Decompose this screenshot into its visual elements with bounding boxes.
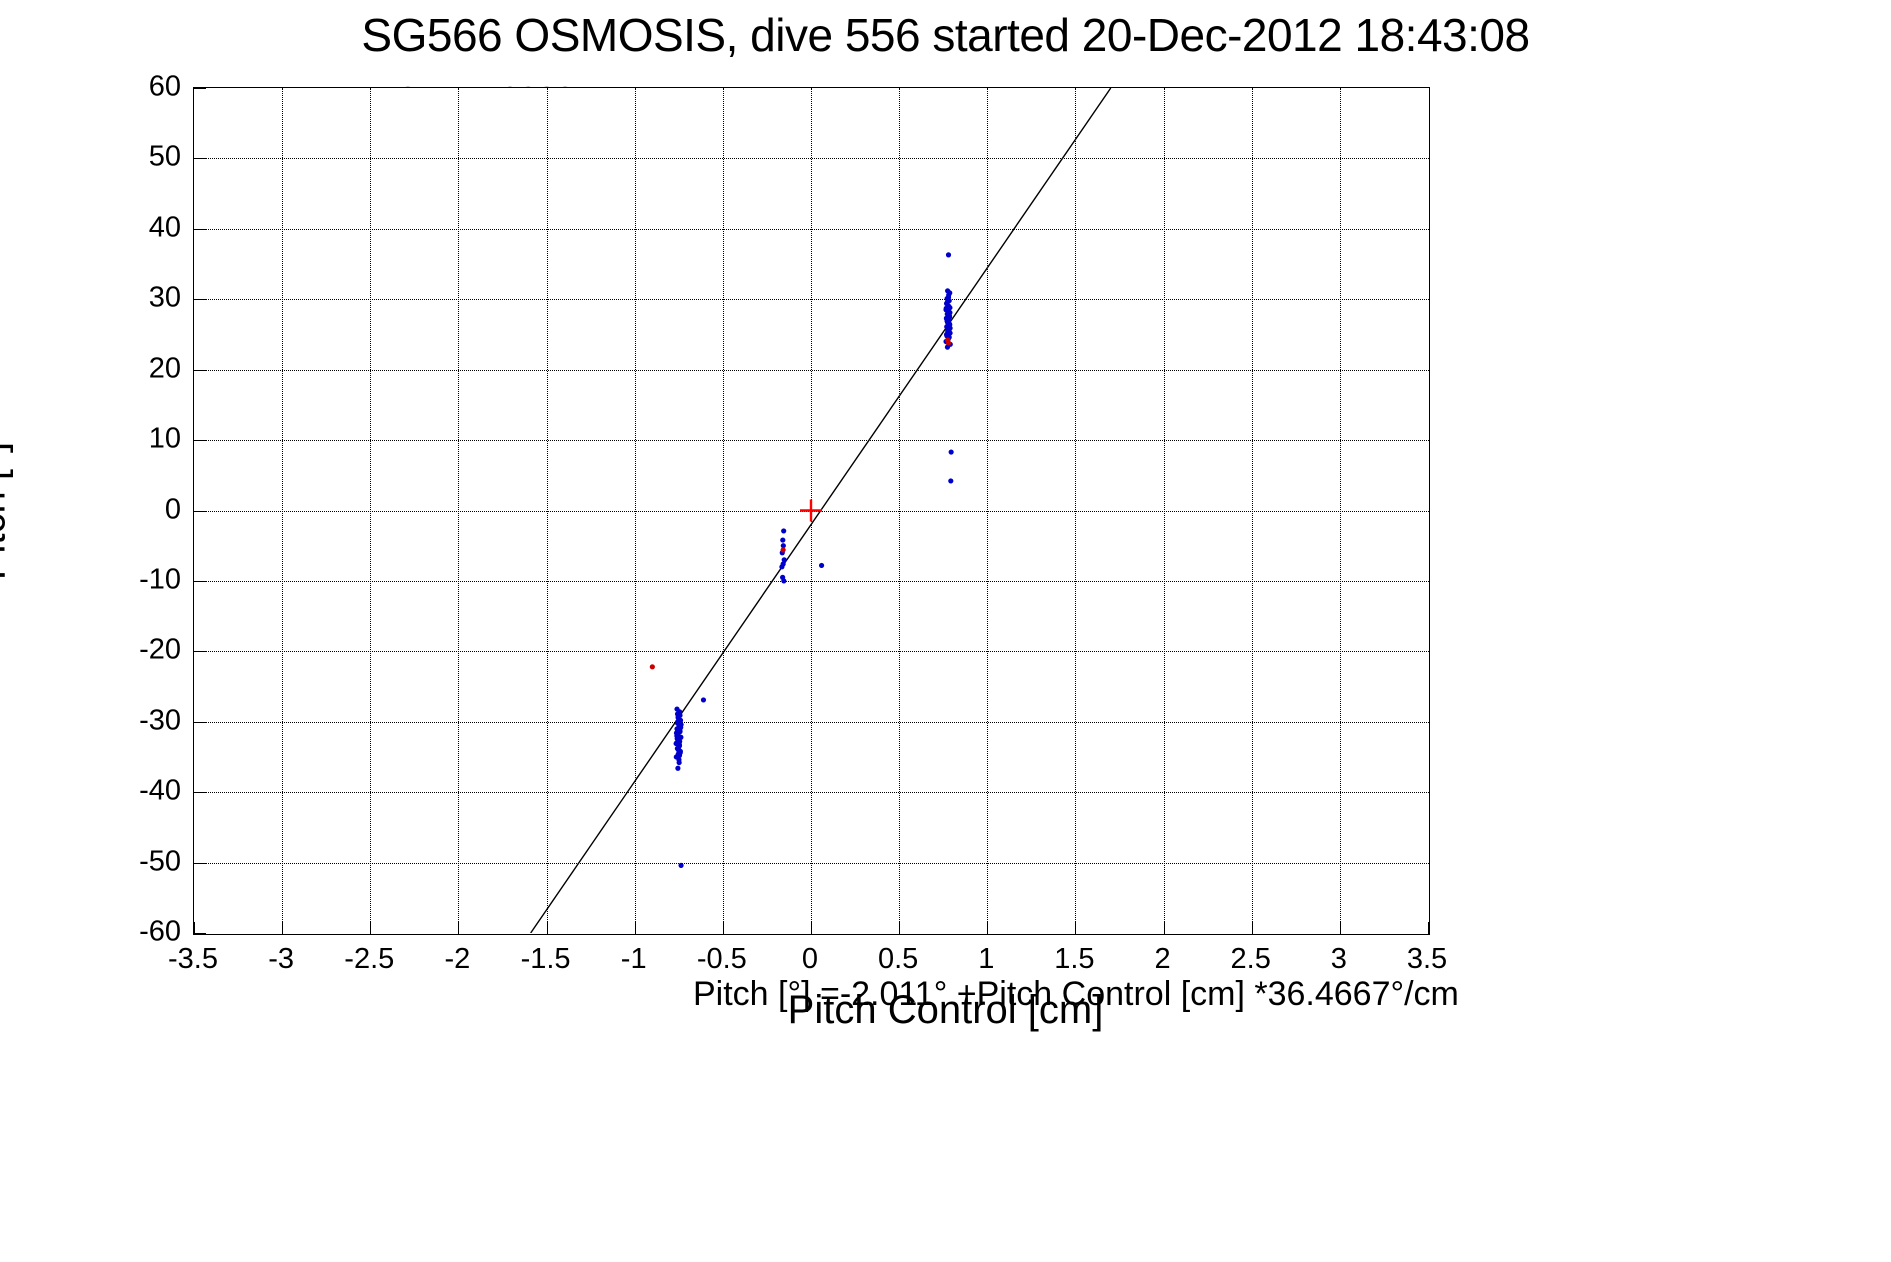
y-tick-label: 20 xyxy=(121,352,181,385)
data-point xyxy=(678,750,683,755)
y-tick-label: 10 xyxy=(121,423,181,456)
data-point xyxy=(946,304,951,309)
data-point xyxy=(945,323,950,328)
data-point xyxy=(781,543,786,548)
y-axis-tick xyxy=(194,863,206,864)
data-point xyxy=(944,332,949,337)
data-point xyxy=(943,339,948,344)
data-point xyxy=(947,322,952,327)
data-point xyxy=(945,345,950,350)
data-point xyxy=(677,742,682,747)
data-point xyxy=(678,863,683,868)
data-point xyxy=(780,550,785,555)
page-title: SG566 OSMOSIS, dive 556 started 20-Dec-2… xyxy=(0,8,1891,62)
grid-line-horizontal xyxy=(194,511,1429,512)
data-point xyxy=(946,328,951,333)
data-point xyxy=(674,741,679,746)
data-point xyxy=(675,746,680,751)
y-tick-label: 30 xyxy=(121,282,181,315)
y-tick-label: -40 xyxy=(121,775,181,808)
data-point xyxy=(674,733,679,738)
data-point xyxy=(945,340,950,345)
data-point xyxy=(781,528,786,533)
data-point xyxy=(947,290,952,295)
data-point xyxy=(677,729,682,734)
data-point xyxy=(676,734,681,739)
x-tick-label: -1 xyxy=(589,943,679,976)
y-axis-tick xyxy=(194,299,206,300)
data-point xyxy=(944,333,949,338)
x-axis-tick xyxy=(547,922,548,934)
grid-line-horizontal xyxy=(194,792,1429,793)
data-point xyxy=(674,740,679,745)
y-axis-tick xyxy=(194,88,206,89)
data-point xyxy=(675,766,680,771)
data-point xyxy=(945,319,950,324)
data-point xyxy=(944,306,949,311)
y-axis-tick xyxy=(194,722,206,723)
y-tick-label: 40 xyxy=(121,211,181,244)
data-point xyxy=(947,335,952,340)
data-point xyxy=(945,328,950,333)
data-point xyxy=(946,326,951,331)
x-axis-tick xyxy=(458,922,459,934)
data-point xyxy=(779,564,784,569)
data-point xyxy=(944,316,949,321)
x-axis-tick xyxy=(1252,922,1253,934)
y-axis-tick xyxy=(194,651,206,652)
x-tick-label: 3 xyxy=(1294,943,1384,976)
x-axis-tick xyxy=(370,922,371,934)
data-point xyxy=(945,299,950,304)
y-axis-tick xyxy=(194,792,206,793)
data-point xyxy=(676,752,681,757)
data-point xyxy=(678,735,683,740)
x-axis-tick xyxy=(1164,922,1165,934)
x-axis-tick xyxy=(987,922,988,934)
x-tick-label: -2.5 xyxy=(324,943,414,976)
data-point xyxy=(678,725,683,730)
y-axis-title: Pitch [°] xyxy=(0,442,15,580)
data-point xyxy=(947,313,952,318)
x-tick-label: 1.5 xyxy=(1029,943,1119,976)
x-axis-tick xyxy=(1075,922,1076,934)
x-tick-label: 3.5 xyxy=(1382,943,1472,976)
y-tick-label: -50 xyxy=(121,845,181,878)
data-point xyxy=(944,333,949,338)
data-point xyxy=(945,330,950,335)
y-axis-tick xyxy=(194,229,206,230)
data-point xyxy=(819,563,824,568)
data-point xyxy=(946,308,951,313)
data-point xyxy=(677,760,682,765)
y-tick-label: -20 xyxy=(121,634,181,667)
data-point xyxy=(782,557,787,562)
data-point xyxy=(944,316,949,321)
y-axis-tick xyxy=(194,158,206,159)
x-tick-label: 0 xyxy=(765,943,855,976)
data-point xyxy=(650,664,655,669)
data-point xyxy=(946,252,951,257)
y-tick-label: 50 xyxy=(121,141,181,174)
data-point xyxy=(674,730,679,735)
data-point xyxy=(674,754,679,759)
data-point xyxy=(948,342,953,347)
x-axis-tick xyxy=(282,922,283,934)
data-point xyxy=(945,320,950,325)
data-point xyxy=(675,711,680,716)
y-axis-tick xyxy=(194,370,206,371)
data-point xyxy=(674,726,679,731)
data-point xyxy=(943,307,948,312)
data-point xyxy=(677,709,682,714)
y-tick-label: -60 xyxy=(121,916,181,949)
y-tick-label: 0 xyxy=(121,493,181,526)
data-point xyxy=(948,478,953,483)
data-point xyxy=(947,314,952,319)
x-tick-label: -3 xyxy=(236,943,326,976)
x-tick-label: -1.5 xyxy=(501,943,591,976)
grid-line-horizontal xyxy=(194,651,1429,652)
data-point xyxy=(781,547,786,552)
data-point xyxy=(947,326,952,331)
data-point xyxy=(949,449,954,454)
x-tick-label: -2 xyxy=(412,943,502,976)
data-point xyxy=(945,288,950,293)
y-tick-label: 60 xyxy=(121,71,181,104)
data-point xyxy=(677,753,682,758)
grid-line-horizontal xyxy=(194,229,1429,230)
data-point xyxy=(676,757,681,762)
data-point xyxy=(678,722,683,727)
y-axis-tick xyxy=(194,581,206,582)
data-point xyxy=(946,335,951,340)
data-point xyxy=(677,728,682,733)
grid-line-horizontal xyxy=(194,299,1429,300)
data-point xyxy=(947,321,952,326)
data-point xyxy=(944,318,949,323)
data-point xyxy=(675,727,680,732)
data-point xyxy=(701,697,706,702)
x-axis-tick xyxy=(1428,922,1429,934)
data-point xyxy=(946,337,951,342)
data-point xyxy=(946,340,951,345)
data-point xyxy=(947,305,952,310)
plot-area xyxy=(193,87,1430,935)
data-point xyxy=(947,310,952,315)
data-point xyxy=(947,314,952,319)
grid-line-horizontal xyxy=(194,722,1429,723)
data-point xyxy=(677,743,682,748)
x-axis-tick xyxy=(811,922,812,934)
y-tick-label: -10 xyxy=(121,563,181,596)
grid-line-horizontal xyxy=(194,370,1429,371)
x-tick-label: 1 xyxy=(941,943,1031,976)
data-point xyxy=(945,311,950,316)
x-axis-tick xyxy=(899,922,900,934)
grid-line-horizontal xyxy=(194,863,1429,864)
figure-root: SG566 OSMOSIS, dive 556 started 20-Dec-2… xyxy=(0,0,1891,1262)
fit-equation-label: Pitch [°] =-2.011° +Pitch Control [cm] *… xyxy=(693,975,1459,1014)
data-point xyxy=(676,747,681,752)
data-point xyxy=(676,745,681,750)
data-point xyxy=(675,715,680,720)
grid-line-horizontal xyxy=(194,440,1429,441)
x-axis-tick xyxy=(635,922,636,934)
data-point xyxy=(675,736,680,741)
data-point xyxy=(945,303,950,308)
data-point xyxy=(946,292,951,297)
data-point xyxy=(780,537,785,542)
x-tick-label: 0.5 xyxy=(853,943,943,976)
data-point xyxy=(946,309,951,314)
data-point xyxy=(678,749,683,754)
x-tick-label: -0.5 xyxy=(677,943,767,976)
grid-line-horizontal xyxy=(194,581,1429,582)
x-axis-tick xyxy=(1340,922,1341,934)
data-point xyxy=(674,706,679,711)
data-point xyxy=(946,318,951,323)
data-point xyxy=(944,301,949,306)
data-point xyxy=(945,337,950,342)
data-point xyxy=(780,575,785,580)
x-axis-tick xyxy=(723,922,724,934)
y-axis-tick xyxy=(194,933,206,934)
x-tick-label: 2 xyxy=(1118,943,1208,976)
grid-line-horizontal xyxy=(194,158,1429,159)
data-point xyxy=(944,324,949,329)
data-point xyxy=(947,330,952,335)
data-point xyxy=(676,737,681,742)
y-axis-tick xyxy=(194,440,206,441)
data-point xyxy=(676,714,681,719)
data-point xyxy=(677,723,682,728)
data-point xyxy=(677,739,682,744)
y-tick-label: -30 xyxy=(121,704,181,737)
data-point xyxy=(781,561,786,566)
y-axis-tick xyxy=(194,511,206,512)
x-tick-label: 2.5 xyxy=(1206,943,1296,976)
data-point xyxy=(677,713,682,718)
data-point xyxy=(675,732,680,737)
